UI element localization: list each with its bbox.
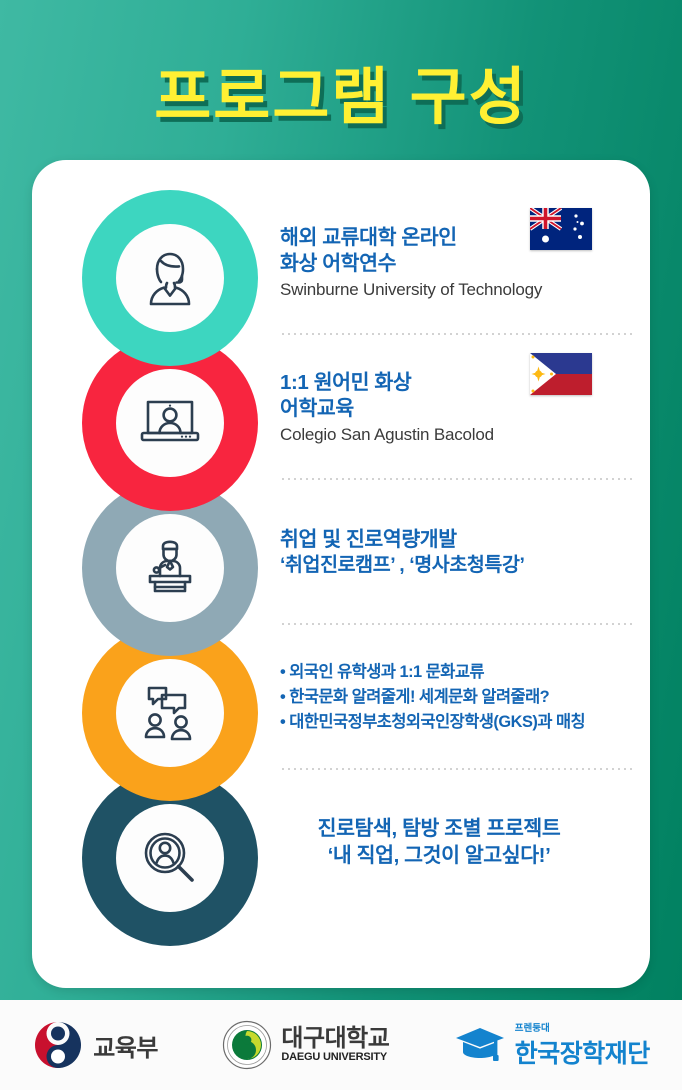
graduation-cap-icon bbox=[454, 1024, 506, 1066]
daegu-university-logo: 대구대학교 DAEGU UNIVERSITY bbox=[222, 1020, 389, 1070]
australia-flag bbox=[530, 208, 592, 250]
podium-speaker-icon bbox=[139, 538, 201, 598]
title-banner: 프로그램 구성 bbox=[0, 36, 682, 146]
logo-sublabel: 프렌둥대 bbox=[515, 1020, 650, 1034]
row-subtitle: Swinburne University of Technology bbox=[280, 280, 634, 300]
list-item: 외국인 유학생과 1:1 문화교류 bbox=[280, 660, 634, 685]
program-row-2: 1:1 원어민 화상 어학교육 Colegio San Agustin Baco… bbox=[244, 335, 634, 480]
philippines-flag bbox=[530, 353, 592, 395]
row-heading-line-2: 어학교육 bbox=[280, 396, 634, 422]
row-heading-line-1: 취업 및 진로역량개발 bbox=[280, 527, 634, 553]
step-icon-wrap-5 bbox=[116, 804, 224, 912]
row-heading-line-2: 화상 어학연수 bbox=[280, 251, 634, 277]
step-icon-wrap-1 bbox=[116, 224, 224, 332]
step-icon-wrap-2 bbox=[116, 369, 224, 477]
list-item: 한국문화 알려줄게! 세계문화 알려줄래? bbox=[280, 685, 634, 710]
daegu-university-seal-icon bbox=[222, 1020, 272, 1070]
list-item: 대한민국정부초청외국인장학생(GKS)과 매칭 bbox=[280, 710, 634, 735]
logo-label: 한국장학재단 bbox=[515, 1034, 650, 1070]
step-icon-wrap-3 bbox=[116, 514, 224, 622]
logo-label: 교육부 bbox=[93, 1028, 158, 1063]
row-heading-line-2: ‘내 직업, 그것이 알고싶다!’ bbox=[244, 843, 634, 869]
step-icon-wrap-4 bbox=[116, 659, 224, 767]
program-rows: 해외 교류대학 온라인 화상 어학연수 Swinburne University… bbox=[244, 190, 634, 915]
step-ring-column bbox=[48, 190, 246, 970]
row-bullet-list: 외국인 유학생과 1:1 문화교류 한국문화 알려줄게! 세계문화 알려줄래? … bbox=[244, 660, 634, 735]
kosaf-logo: 프렌둥대 한국장학재단 bbox=[454, 1020, 650, 1070]
laptop-person-icon bbox=[138, 396, 202, 450]
row-subtitle: Colegio San Agustin Bacolod bbox=[280, 425, 634, 445]
taegeuk-swirl-icon bbox=[32, 1019, 84, 1071]
chat-two-people-icon bbox=[139, 684, 201, 742]
page-title: 프로그램 구성 bbox=[154, 46, 527, 136]
program-row-1: 해외 교류대학 온라인 화상 어학연수 Swinburne University… bbox=[244, 190, 634, 335]
woman-headset-icon bbox=[141, 247, 199, 309]
footer-logo-bar: 교육부 대구대학교 DAEGU UNIVERSITY 프렌둥대 한국장학재단 bbox=[0, 1000, 682, 1090]
row-heading-line-1: 진로탐색, 탐방 조별 프로젝트 bbox=[244, 816, 634, 842]
step-ring-1 bbox=[82, 190, 258, 366]
program-row-4: 외국인 유학생과 1:1 문화교류 한국문화 알려줄게! 세계문화 알려줄래? … bbox=[244, 625, 634, 770]
logo-label: 대구대학교 bbox=[281, 1027, 389, 1051]
logo-sublabel: DAEGU UNIVERSITY bbox=[281, 1051, 389, 1063]
program-card: 해외 교류대학 온라인 화상 어학연수 Swinburne University… bbox=[32, 160, 650, 988]
program-row-5: 진로탐색, 탐방 조별 프로젝트 ‘내 직업, 그것이 알고싶다!’ bbox=[244, 770, 634, 915]
row-heading-line-2: ‘취업진로캠프’ , ‘명사초청특강’ bbox=[280, 553, 634, 578]
program-row-3: 취업 및 진로역량개발 ‘취업진로캠프’ , ‘명사초청특강’ bbox=[244, 480, 634, 625]
ministry-of-education-logo: 교육부 bbox=[32, 1019, 158, 1071]
magnifier-person-icon bbox=[139, 827, 201, 889]
